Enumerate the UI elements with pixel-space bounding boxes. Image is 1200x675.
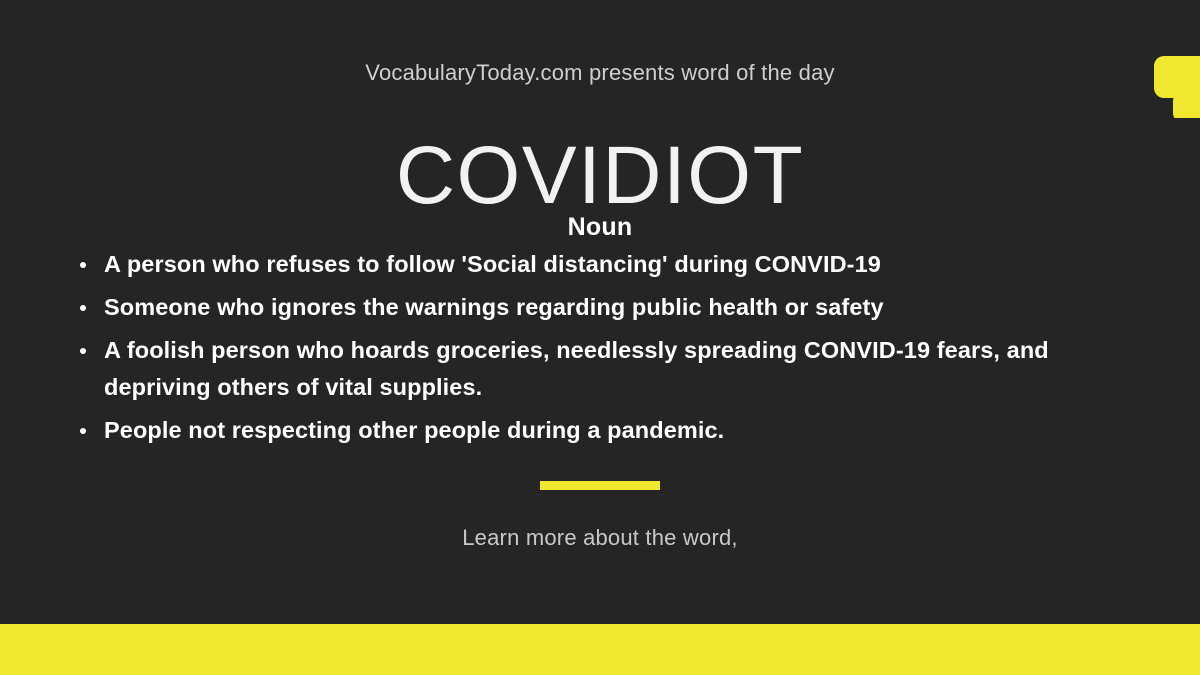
kicker-text: VocabularyToday.com presents word of the… <box>0 60 1200 86</box>
definition-list: A person who refuses to follow 'Social d… <box>74 246 1134 455</box>
list-item: A foolish person who hoards groceries, n… <box>74 332 1134 406</box>
list-item: People not respecting other people durin… <box>74 412 1134 449</box>
word-of-the-day-slide: VocabularyToday.com presents word of the… <box>0 0 1200 675</box>
accent-divider <box>540 481 660 490</box>
list-item: Someone who ignores the warnings regardi… <box>74 289 1134 326</box>
page-title: COVIDIOT <box>0 134 1200 218</box>
list-item: A person who refuses to follow 'Social d… <box>74 246 1134 283</box>
bottom-accent-band <box>0 624 1200 675</box>
part-of-speech-label: Noun <box>0 213 1200 242</box>
footer-note: Learn more about the word, <box>0 525 1200 551</box>
